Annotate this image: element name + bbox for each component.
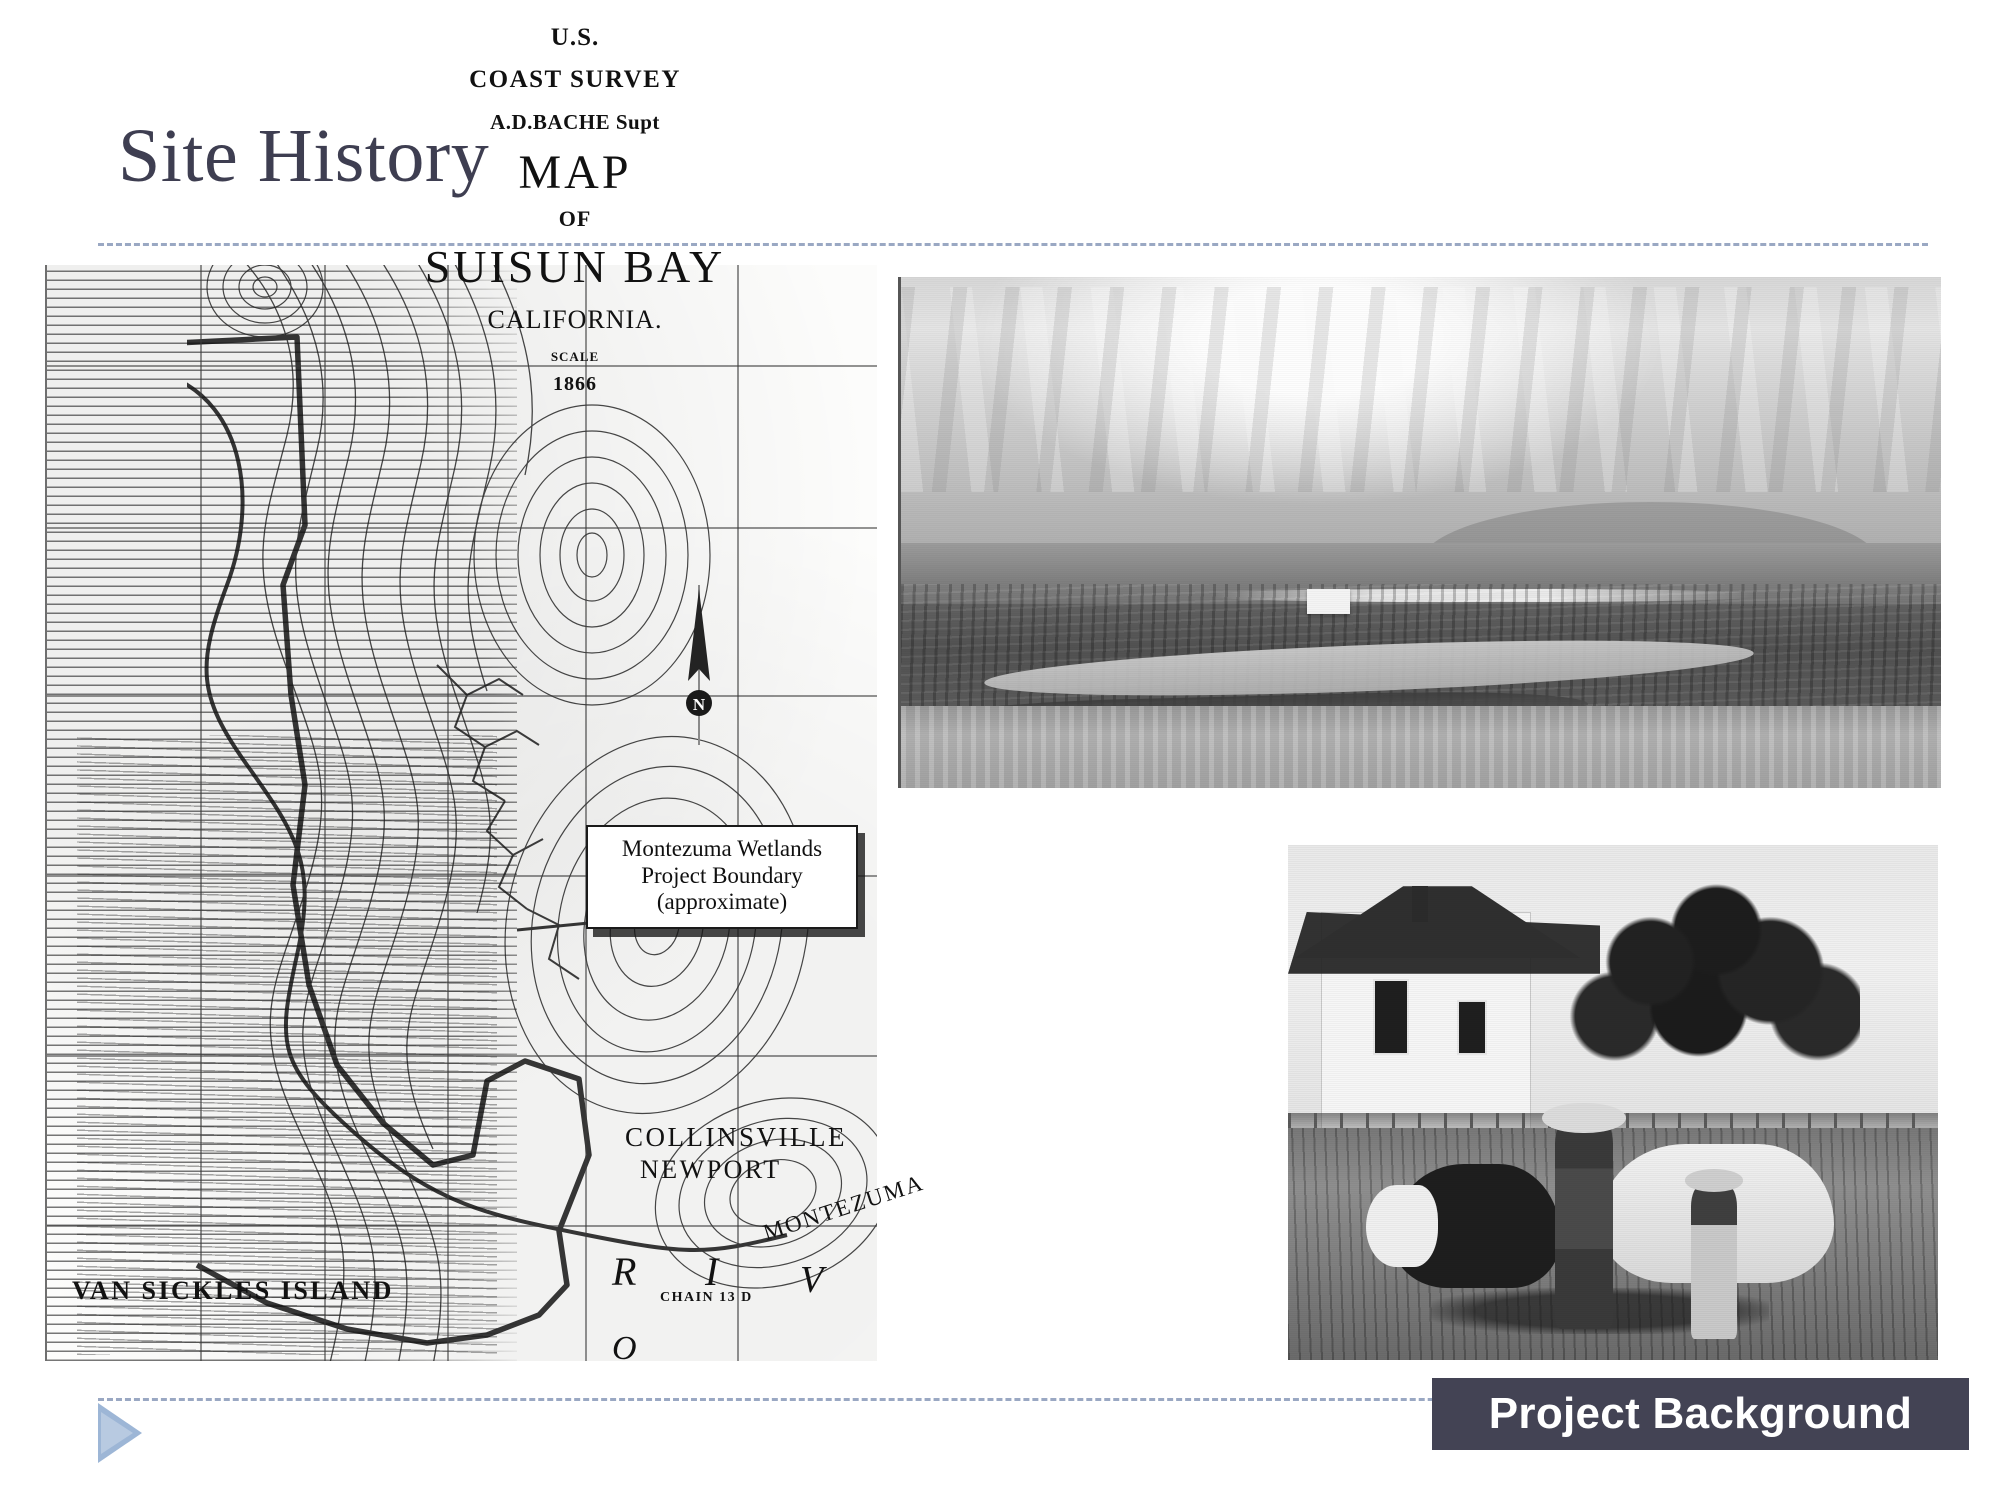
north-arrow-icon: N xyxy=(678,585,720,745)
map-title-line-8: SCALE xyxy=(360,349,790,365)
map-gridline-horizontal xyxy=(47,527,877,529)
map-gridline-vertical xyxy=(200,265,202,1361)
farm-photograph xyxy=(1288,845,1938,1360)
slide-canvas: Site History xyxy=(0,0,2000,1500)
map-label-river-v: V xyxy=(800,1258,823,1302)
map-title-line-4: MAP xyxy=(360,145,790,200)
map-gridline-vertical xyxy=(737,265,739,1361)
map-label-river-i: I xyxy=(705,1248,718,1295)
historic-map-image xyxy=(45,265,877,1361)
map-gridline-horizontal xyxy=(47,1055,877,1057)
section-badge-label: Project Background xyxy=(1489,1389,1913,1439)
callout-line-1: Montezuma Wetlands xyxy=(594,836,850,863)
aerial-film-grain xyxy=(901,277,1941,788)
map-title-line-2: COAST SURVEY xyxy=(360,66,790,94)
map-label-river-o: O xyxy=(612,1330,637,1368)
map-gridline-vertical xyxy=(447,265,449,1361)
map-title-line-7: CALIFORNIA. xyxy=(360,305,790,335)
farm-film-grain xyxy=(1288,845,1938,1360)
map-title-line-5: OF xyxy=(360,206,790,232)
map-title-line-1: U.S. xyxy=(360,24,790,52)
map-label-collinsville: COLLINSVILLE xyxy=(625,1122,847,1153)
map-callout-box: Montezuma Wetlands Project Boundary (app… xyxy=(586,825,858,929)
play-triangle-icon-inner xyxy=(101,1412,133,1454)
map-label-van-sickles-island: VAN SICKLES ISLAND xyxy=(72,1276,394,1306)
callout-line-3: (approximate) xyxy=(594,889,850,916)
map-label-river-r: R xyxy=(612,1248,636,1295)
aerial-photograph xyxy=(898,277,1941,788)
map-label-newport: NEWPORT xyxy=(640,1155,782,1185)
section-badge: Project Background xyxy=(1432,1378,1969,1450)
map-title-block: U.S. COAST SURVEY A.D.BACHE Supt MAP OF … xyxy=(360,0,790,396)
map-title-line-6: SUISUN BAY xyxy=(360,240,790,293)
map-gridline-vertical xyxy=(324,265,326,1361)
map-gridline-vertical xyxy=(585,265,587,1361)
map-contour-lines xyxy=(187,265,877,1361)
callout-line-2: Project Boundary xyxy=(594,863,850,890)
map-gridline-horizontal xyxy=(47,695,877,697)
map-gridline-horizontal xyxy=(47,1225,877,1227)
map-title-line-3: A.D.BACHE Supt xyxy=(360,110,790,135)
map-label-chain-note: CHAIN 13 D xyxy=(660,1290,753,1306)
svg-text:N: N xyxy=(693,695,706,714)
map-title-line-9: 1866 xyxy=(360,373,790,396)
